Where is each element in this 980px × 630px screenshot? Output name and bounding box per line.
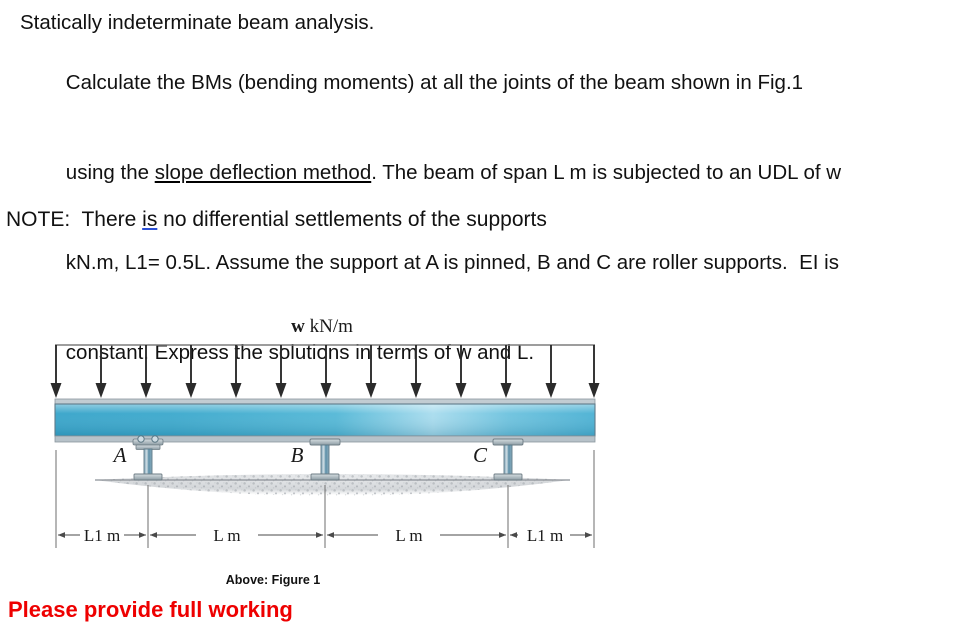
problem-line-1-pre: Calculate the BMs (bending moments) at a… xyxy=(66,71,803,94)
problem-line-3-pre: kN.m, L1= 0.5L. Assume the support at A … xyxy=(66,251,839,274)
problem-line-2-pre: using the xyxy=(66,161,155,184)
udl-load-label: w kN/m xyxy=(291,316,353,337)
udl-arrow xyxy=(456,345,467,398)
dimension-label-2: L m xyxy=(213,526,240,545)
note-label: NOTE: There xyxy=(6,208,142,231)
udl-arrow xyxy=(366,345,377,398)
udl-arrow xyxy=(141,345,152,398)
note-rest: no differential settlements of the suppo… xyxy=(157,208,547,231)
udl-arrow xyxy=(186,345,197,398)
udl-arrow xyxy=(276,345,287,398)
support-label-A: A xyxy=(112,443,127,467)
support-A: A xyxy=(112,436,163,480)
udl-arrow xyxy=(501,345,512,398)
udl-arrow xyxy=(546,345,557,398)
dimension-label-4: L1 m xyxy=(527,526,563,545)
udl-arrow xyxy=(589,345,600,398)
udl-arrow xyxy=(321,345,332,398)
full-working-request: Please provide full working xyxy=(8,597,293,623)
beam xyxy=(55,399,595,442)
problem-title: Statically indeterminate beam analysis. xyxy=(0,8,980,38)
beam-figure: w kN/m xyxy=(0,300,660,560)
udl-arrow xyxy=(96,345,107,398)
slope-deflection-method-underlined: slope deflection method xyxy=(155,161,372,184)
udl-arrow-group xyxy=(51,345,600,398)
problem-line-1: Calculate the BMs (bending moments) at a… xyxy=(0,38,980,128)
note-line: NOTE: There is no differential settlemen… xyxy=(6,205,547,235)
udl-arrow xyxy=(231,345,242,398)
support-B: B xyxy=(291,439,340,480)
support-C: C xyxy=(473,439,523,480)
figure-caption: Above: Figure 1 xyxy=(0,573,546,587)
note-emphasis-is: is xyxy=(142,208,157,231)
support-label-C: C xyxy=(473,443,488,467)
problem-line-2-post: . The beam of span L m is subjected to a… xyxy=(371,161,841,184)
support-label-B: B xyxy=(291,443,304,467)
dimension-label-1: L1 m xyxy=(84,526,120,545)
udl-arrow xyxy=(51,345,62,398)
udl-arrow xyxy=(411,345,422,398)
dimension-label-3: L m xyxy=(395,526,422,545)
